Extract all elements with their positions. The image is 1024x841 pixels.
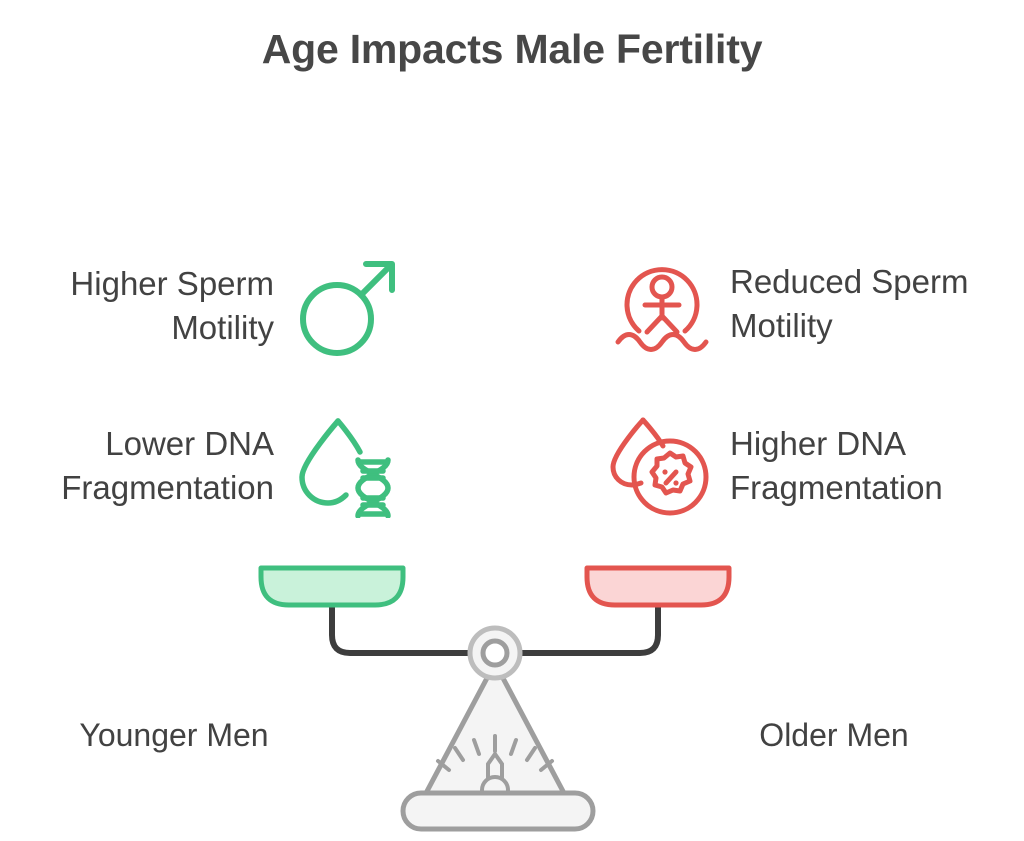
feature-higher-dna-fragmentation: Higher DNA Fragmentation [608,414,1018,518]
scale-pan-left [261,568,403,605]
feature-lower-dna-fragmentation: Lower DNA Fragmentation [0,414,400,518]
feature-label-higher-sperm-motility: Higher Sperm Motility [70,262,274,350]
page-title: Age Impacts Male Fertility [0,26,1024,73]
droplet-damaged-cell-icon [608,414,712,518]
scale-base-icon [403,793,593,829]
fulcrum-pivot-icon [470,628,520,678]
swimmer-waves-icon [612,252,712,356]
male-symbol-icon [292,252,400,360]
feature-label-lower-dna-fragmentation: Lower DNA Fragmentation [61,422,274,510]
feature-reduced-sperm-motility: Reduced Sperm Motility [612,252,1012,356]
feature-label-higher-dna-fragmentation: Higher DNA Fragmentation [730,422,943,510]
droplet-dna-icon [292,414,400,518]
balance-scale-graphic [0,545,1024,841]
scale-pan-right [587,568,729,605]
caption-older-men: Older Men [660,716,1008,754]
caption-younger-men: Younger Men [0,716,348,754]
feature-higher-sperm-motility: Higher Sperm Motility [18,252,400,360]
feature-label-reduced-sperm-motility: Reduced Sperm Motility [730,260,968,348]
